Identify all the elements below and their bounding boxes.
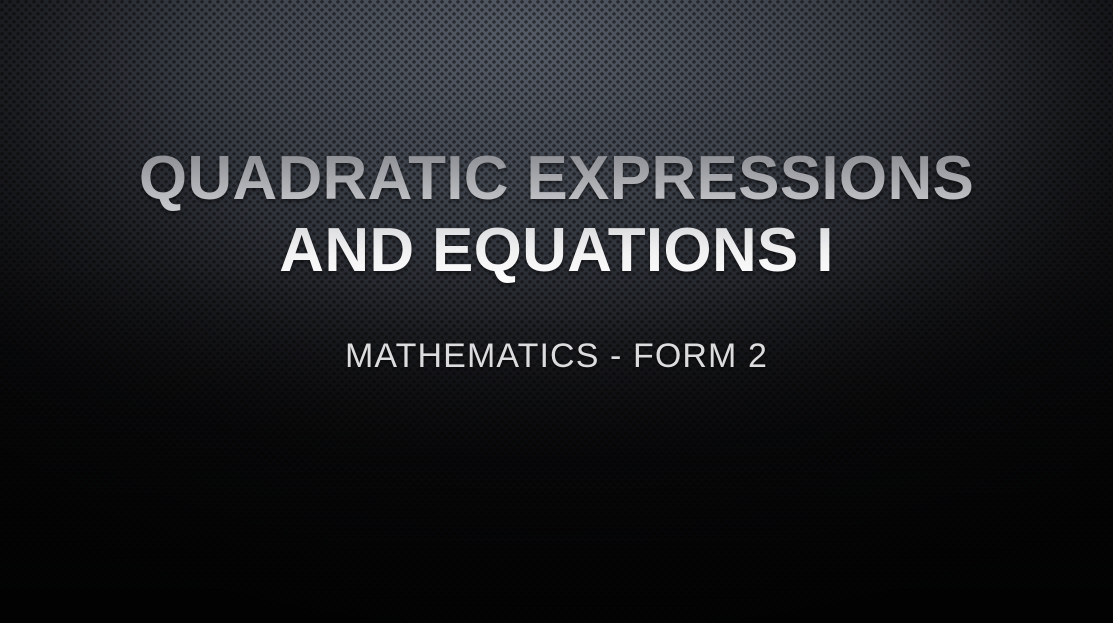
subtitle-placeholder[interactable]: Mathematics - Form 2 (0, 335, 1113, 377)
slide-content: Quadratic Expressions and Equations I Ma… (0, 0, 1113, 377)
title-slide: Quadratic Expressions and Equations I Ma… (0, 0, 1113, 623)
slide-subtitle: Mathematics - Form 2 (60, 335, 1053, 377)
title-placeholder[interactable]: Quadratic Expressions and Equations I (0, 143, 1113, 287)
slide-title: Quadratic Expressions and Equations I (60, 143, 1053, 287)
